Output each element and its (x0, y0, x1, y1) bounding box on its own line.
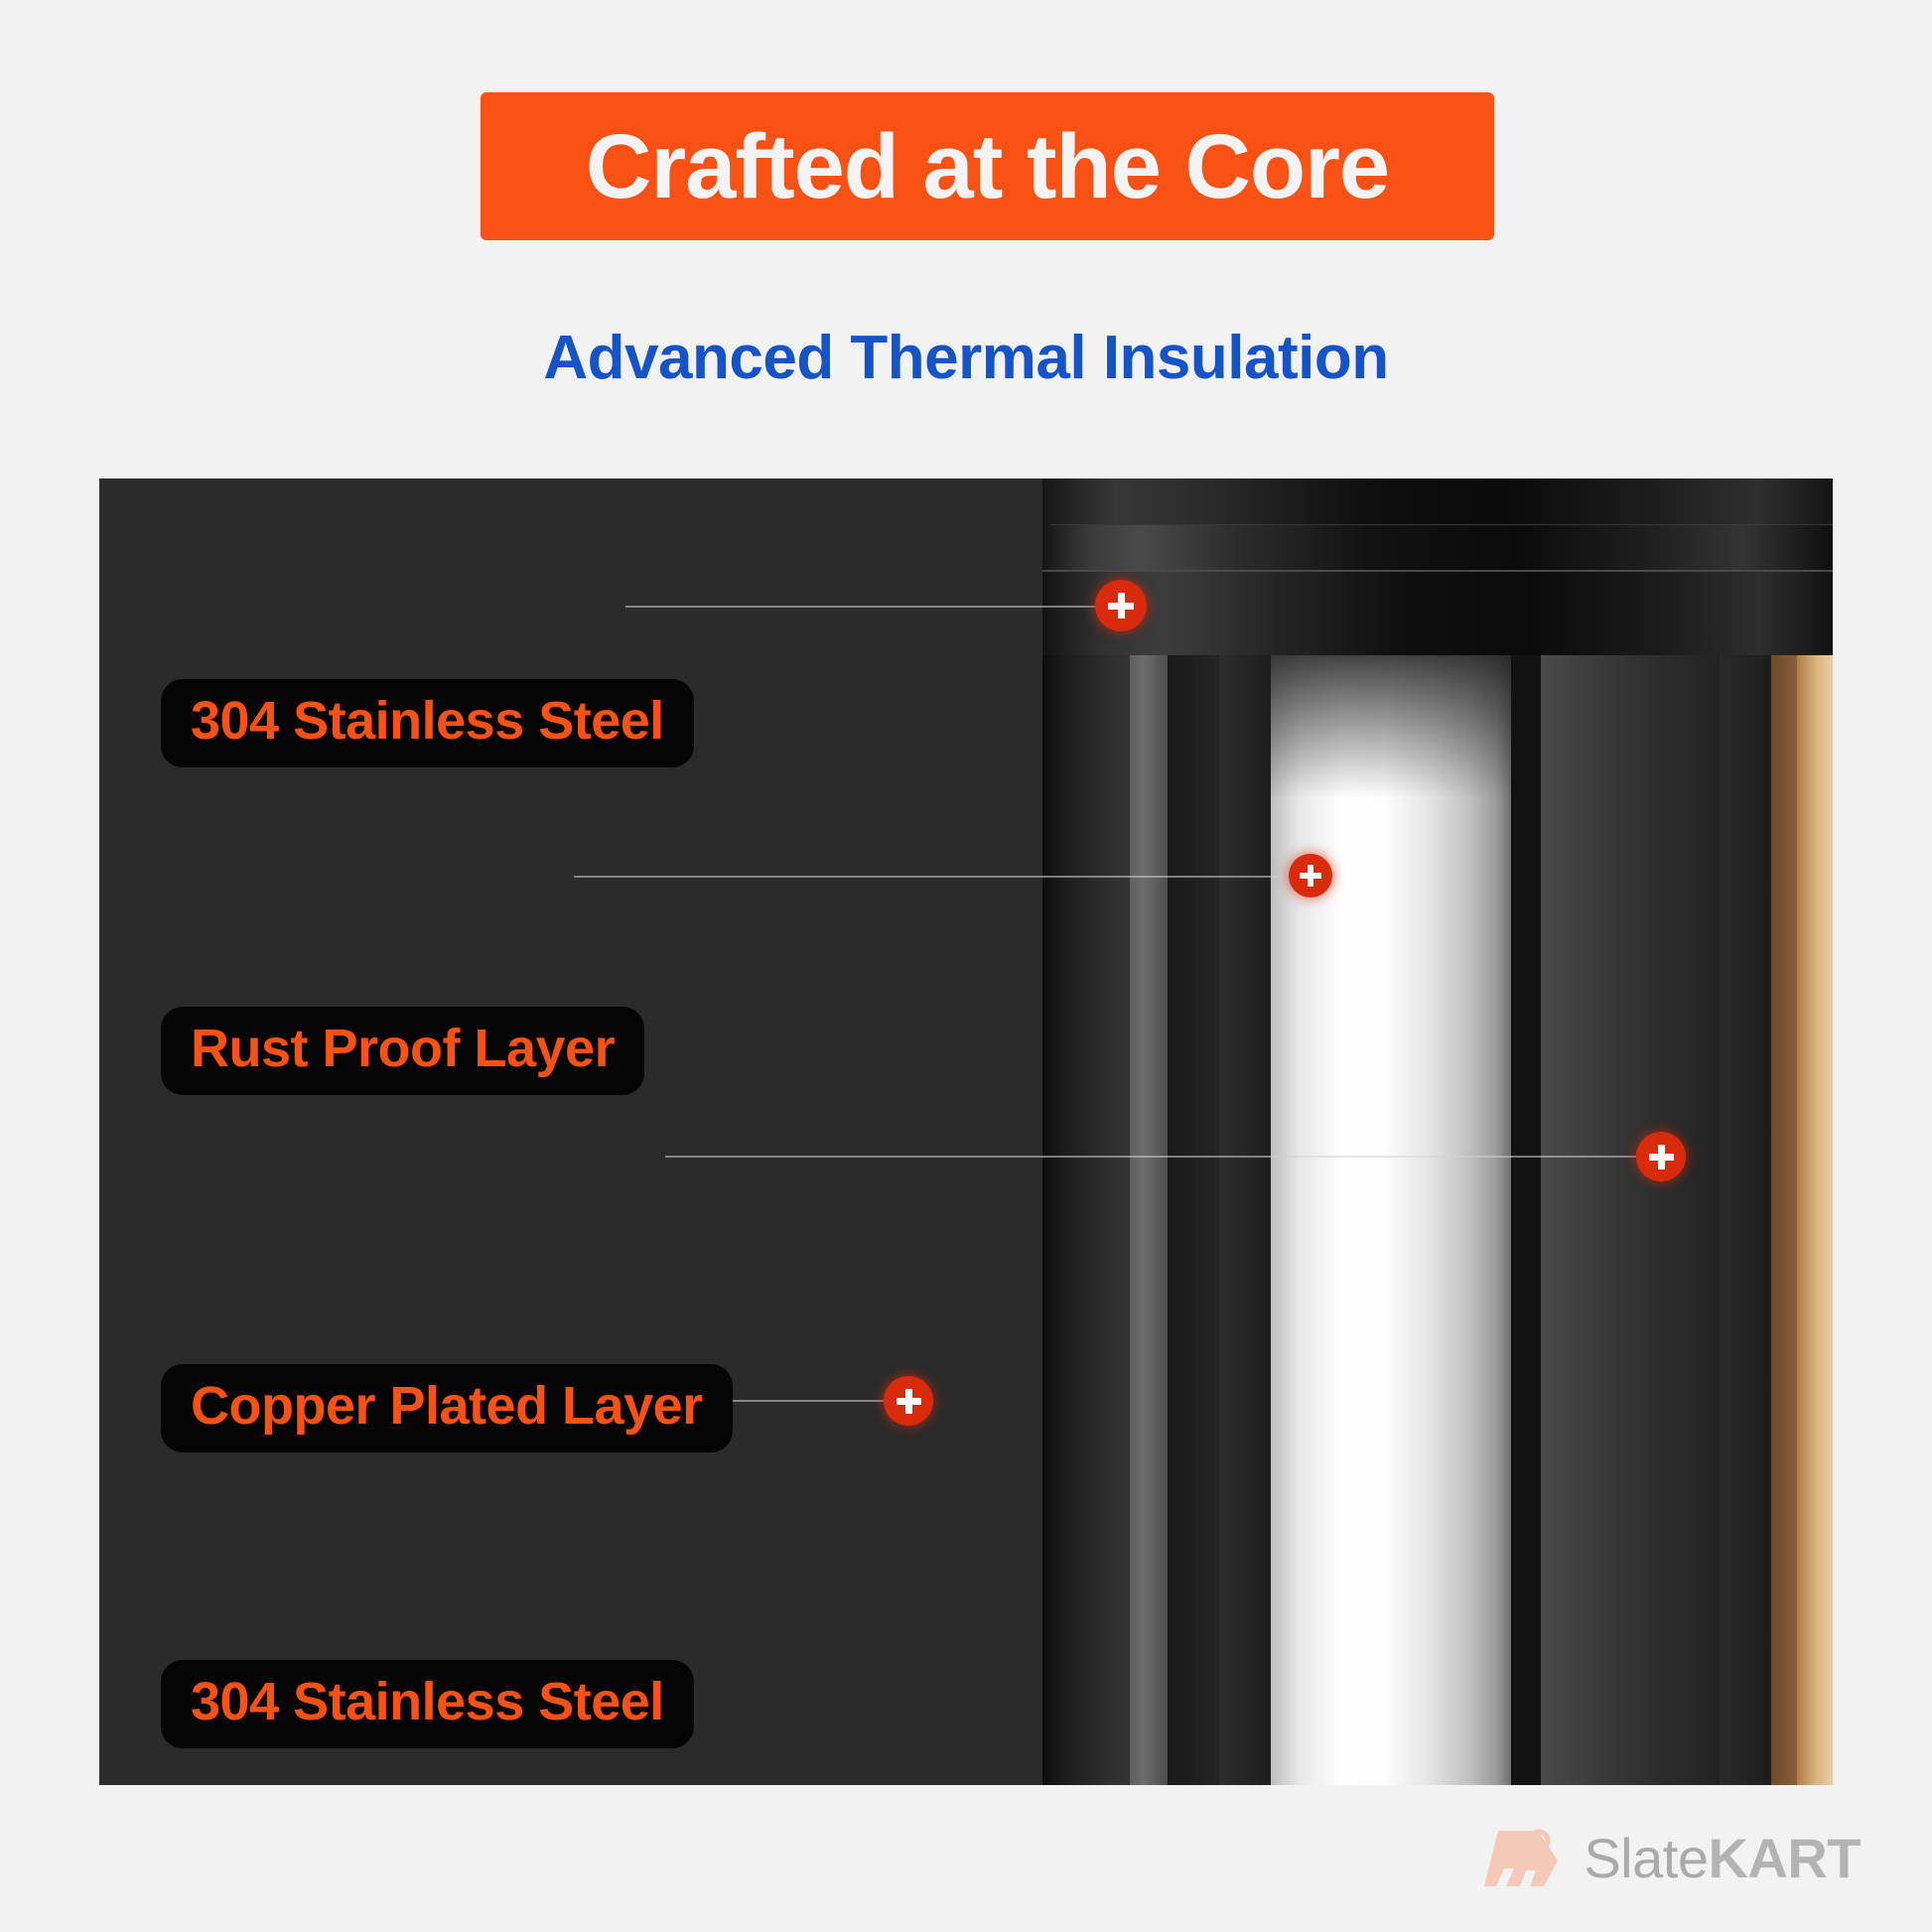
layer-seam (1511, 649, 1541, 1785)
marker-copper-plated-layer[interactable] (1636, 1132, 1686, 1181)
title-badge: Crafted at the Core (481, 92, 1494, 240)
page-title: Crafted at the Core (586, 121, 1389, 212)
layer-outer-gap (1168, 649, 1219, 1785)
steel-top-shadow (1271, 649, 1511, 798)
bottle-cap (1042, 479, 1833, 572)
marker-304-stainless-steel-inner[interactable] (1095, 580, 1147, 631)
brand-logo-text-bold: KART (1708, 1827, 1861, 1889)
leader-line-2 (574, 876, 1309, 878)
marker-rust-proof-layer[interactable] (1289, 854, 1332, 897)
brand-logo: SlateKART (1482, 1826, 1861, 1890)
layer-copper-shadow (1771, 649, 1797, 1785)
bottle-collar (1042, 568, 1833, 655)
callout-label-copper-plated-layer[interactable]: Copper Plated Layer (161, 1364, 733, 1452)
layer-copper-plating (1797, 649, 1833, 1785)
leader-line-3 (665, 1156, 1658, 1158)
callout-label-304-stainless-steel-outer[interactable]: 304 Stainless Steel (161, 1660, 694, 1748)
plus-icon (1118, 593, 1125, 619)
brand-logo-text-light: Slate (1584, 1827, 1708, 1889)
plus-icon (1658, 1145, 1665, 1170)
bottle-cap-top (1050, 479, 1833, 525)
leader-line-1 (625, 606, 1122, 608)
layer-outer-glass-sliver (1130, 649, 1168, 1785)
bottle-cutaway-illustration (1042, 479, 1833, 1785)
callout-label-304-stainless-steel-inner[interactable]: 304 Stainless Steel (161, 679, 694, 767)
callout-label-rust-proof-layer[interactable]: Rust Proof Layer (161, 1007, 644, 1095)
marker-304-stainless-steel-outer[interactable] (884, 1376, 933, 1426)
plus-icon (1308, 865, 1313, 887)
diagram-panel (99, 479, 1833, 1785)
plus-icon (905, 1389, 912, 1414)
layer-vacuum-cavity-right (1541, 649, 1720, 1785)
layer-inner-stainless-wall (1271, 649, 1511, 1785)
page-subtitle: Advanced Thermal Insulation (0, 323, 1932, 393)
brand-logo-text: SlateKART (1584, 1826, 1861, 1890)
layer-rust-proof-coating (1720, 649, 1771, 1785)
price-tag-icon (1482, 1827, 1566, 1890)
layer-vacuum-cavity-left (1219, 649, 1271, 1785)
